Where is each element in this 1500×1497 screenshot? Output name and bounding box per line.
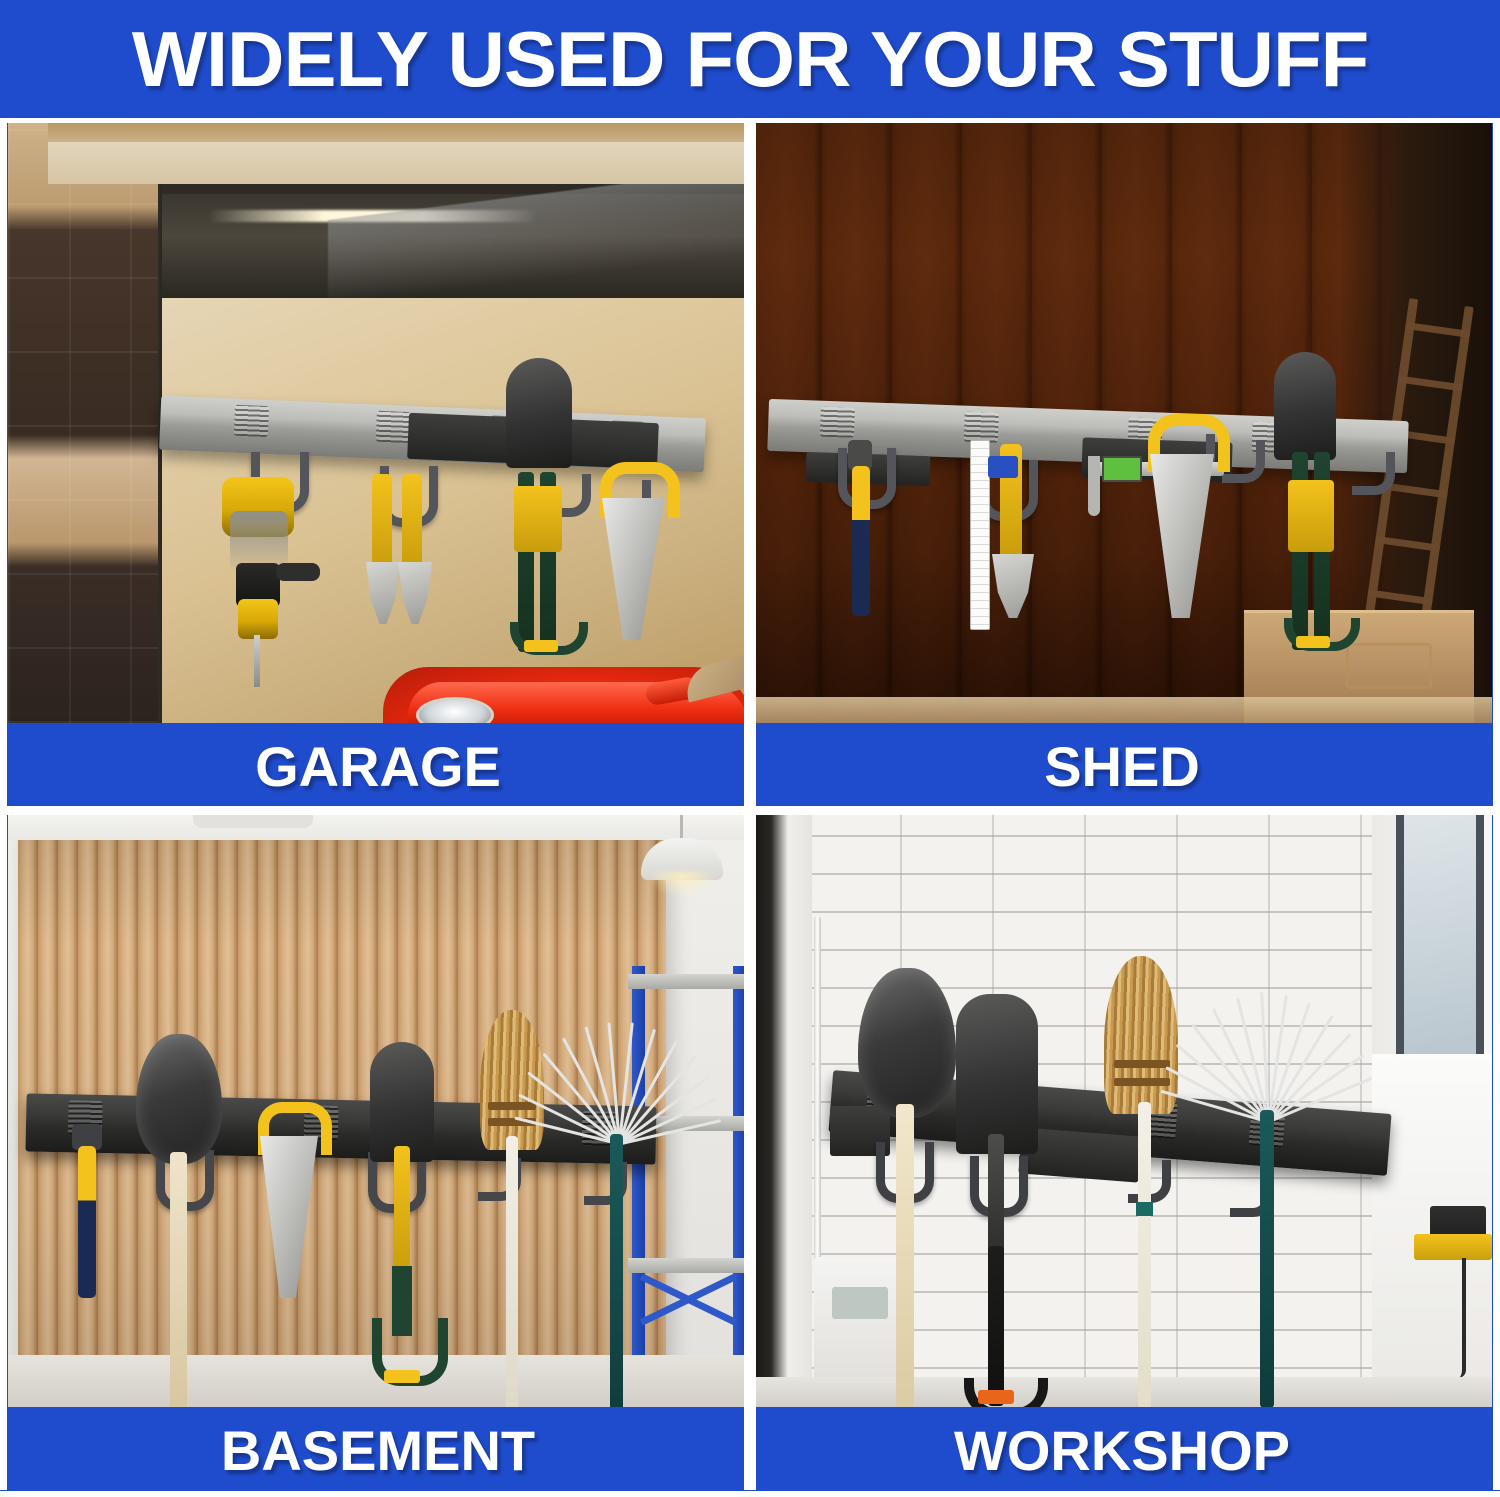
shed-garden-fork [1280,452,1352,650]
shed-spade-blade [1274,352,1336,460]
basement-hammer [70,1124,106,1304]
basement-fan-rake [548,1022,688,1407]
panel-shed: SHED [752,122,1492,806]
shed-blue-clip [988,456,1018,478]
horizontal-divider [0,806,1500,815]
header-banner: WIDELY USED FOR YOUR STUFF [0,0,1500,118]
panel-workshop: WORKSHOP [752,806,1492,1490]
shed-photo [752,122,1492,723]
workshop-photo [752,806,1492,1407]
rake-tines [1192,992,1342,1122]
panel-basement: BASEMENT [8,806,748,1490]
garage-drill [216,467,308,677]
panel-garage: GARAGE [8,122,748,806]
shed-hammer [844,440,878,620]
garage-stone-wall [8,122,158,723]
page-title: WIDELY USED FOR YOUR STUFF [132,20,1368,98]
basement-lamp-glow [648,872,716,898]
garage-spade-blade [506,358,572,468]
workshop-window [1396,806,1484,1064]
workshop-caption-text: WORKSHOP [954,1423,1290,1479]
basement-spade-shovel [370,1042,434,1402]
left-margin [0,122,7,1490]
basement-photo [8,806,748,1407]
shed-caption-text: SHED [1044,739,1200,795]
basement-caption: BASEMENT [8,1412,748,1490]
infographic-board: WIDELY USED FOR YOUR STUFF [0,0,1500,1497]
right-margin [1493,122,1500,1490]
basement-corn-broom [474,1010,550,1407]
shed-caption: SHED [752,728,1492,806]
shed-hook-5 [1352,452,1395,495]
workshop-flat-spade [956,994,1038,1407]
bottom-margin [0,1491,1500,1497]
garage-caption-text: GARAGE [255,739,501,795]
shed-steel-ruler [970,440,990,630]
workshop-left-column [752,806,812,1407]
workshop-caption: WORKSHOP [752,1412,1492,1490]
shed-floor [752,697,1492,723]
garage-garden-fork [506,472,580,652]
workshop-device-cord [1458,1258,1466,1378]
garage-photo [8,122,748,723]
workshop-yellow-bracket [1414,1234,1492,1260]
garage-hand-saw [596,462,676,642]
garage-wrench [364,474,438,634]
shed-hand-saw [1144,414,1226,620]
basement-round-shovel [136,1034,222,1407]
basement-hand-saw [256,1102,328,1302]
garage-lintel-top [48,122,748,142]
workshop-round-shovel [858,968,956,1407]
top-divider [0,118,1500,123]
workshop-fan-rake [1192,992,1342,1407]
garage-caption: GARAGE [8,728,748,806]
rake-tines [548,1022,688,1144]
basement-caption-text: BASEMENT [221,1423,535,1479]
workshop-corn-broom [1100,956,1184,1407]
shed-box-label [1346,643,1432,689]
